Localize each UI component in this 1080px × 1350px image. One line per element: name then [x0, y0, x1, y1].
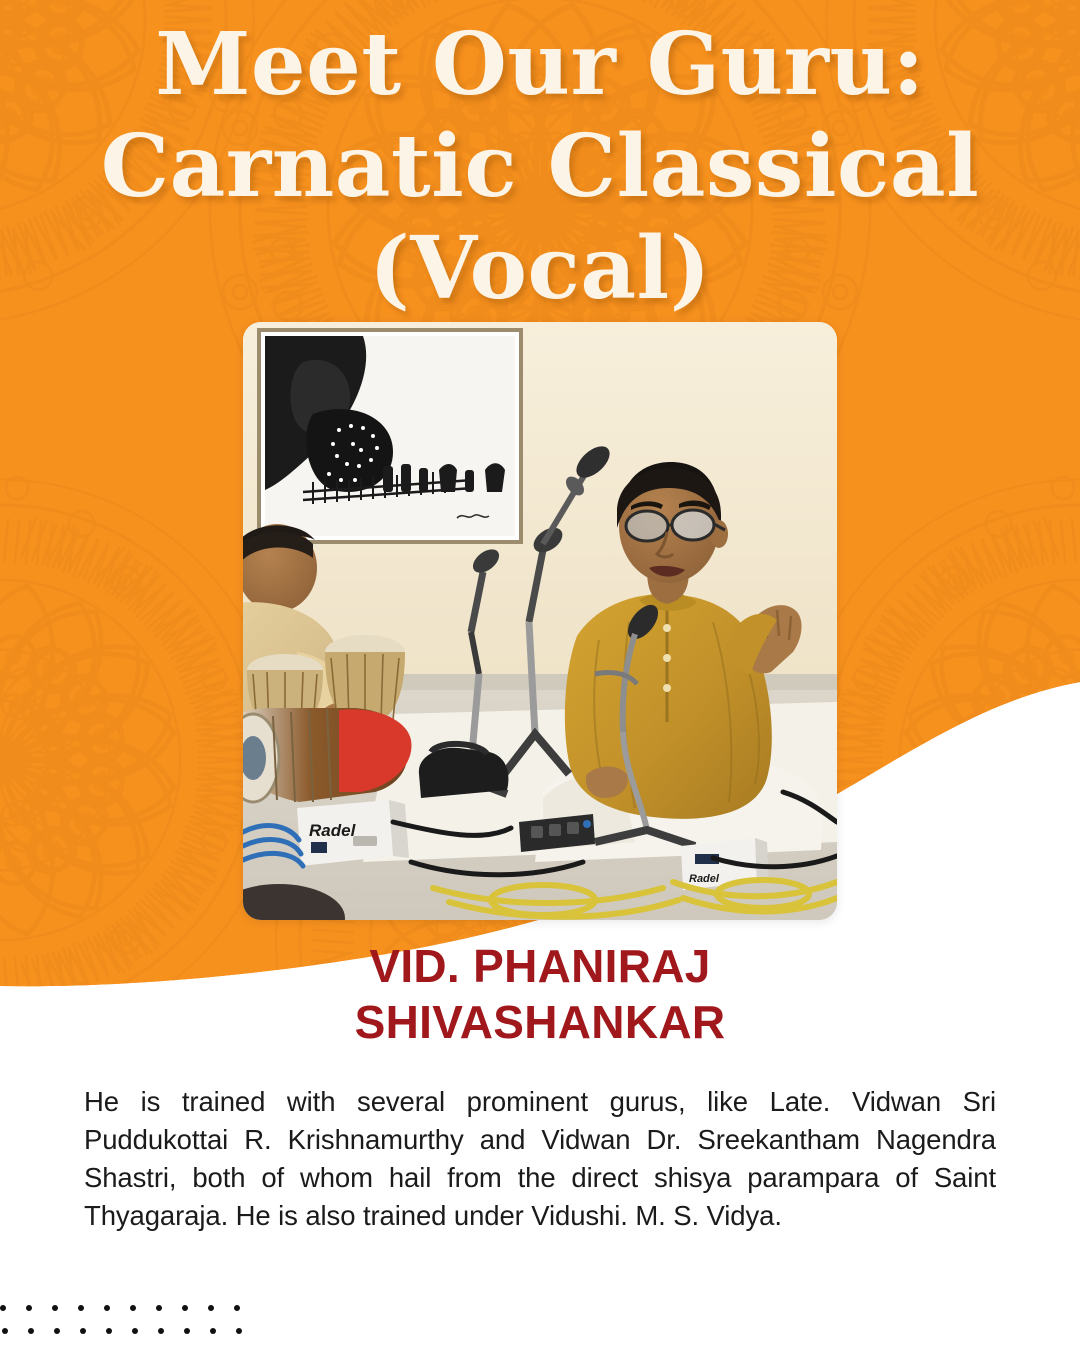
dot — [54, 1328, 60, 1334]
dot — [184, 1328, 190, 1334]
dot-row-1 — [0, 1305, 242, 1311]
guru-photo-illustration: Radel Radel — [243, 322, 837, 920]
dot — [182, 1305, 188, 1311]
title-line-3: (Vocal) — [0, 218, 1080, 320]
page-title: Meet Our Guru: Carnatic Classical (Vocal… — [0, 14, 1080, 320]
svg-text:Radel: Radel — [689, 873, 720, 885]
dot — [236, 1328, 242, 1334]
title-line-2: Carnatic Classical — [0, 116, 1080, 218]
dot — [106, 1328, 112, 1334]
dot — [132, 1328, 138, 1334]
dot — [52, 1305, 58, 1311]
dot — [26, 1305, 32, 1311]
guru-name-line-2: SHIVASHANKAR — [0, 994, 1080, 1050]
dot — [130, 1305, 136, 1311]
dot — [208, 1305, 214, 1311]
dot — [234, 1305, 240, 1311]
dot — [2, 1328, 8, 1334]
dot — [80, 1328, 86, 1334]
guru-name: VID. PHANIRAJ SHIVASHANKAR — [0, 938, 1080, 1050]
poster-canvas: Meet Our Guru: Carnatic Classical (Vocal… — [0, 0, 1080, 1350]
svg-text:Radel: Radel — [309, 821, 357, 840]
guru-photo: Radel Radel — [243, 322, 837, 920]
dot — [158, 1328, 164, 1334]
dot-row-2 — [2, 1328, 242, 1334]
dot — [104, 1305, 110, 1311]
dot — [156, 1305, 162, 1311]
dot — [210, 1328, 216, 1334]
guru-bio-text: He is trained with several prominent gur… — [84, 1083, 996, 1235]
wall-artwork — [259, 330, 521, 542]
decorative-dot-grid — [0, 1305, 242, 1350]
dot — [28, 1328, 34, 1334]
guru-name-line-1: VID. PHANIRAJ — [0, 938, 1080, 994]
dot — [78, 1305, 84, 1311]
title-line-1: Meet Our Guru: — [0, 14, 1080, 116]
equipment-bag — [419, 748, 509, 798]
dot — [0, 1305, 6, 1311]
